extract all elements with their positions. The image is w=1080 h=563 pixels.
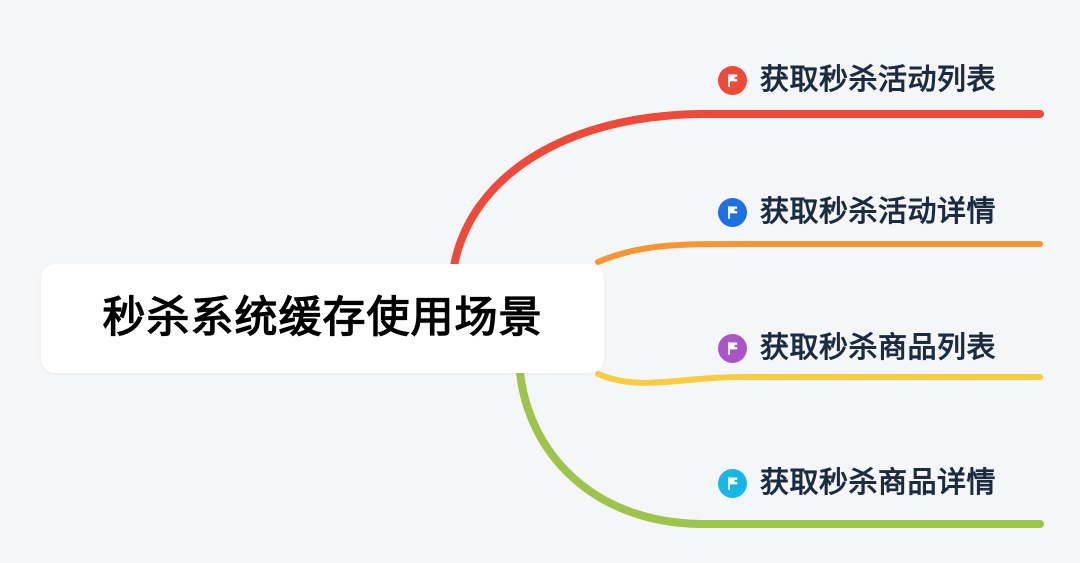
root-node[interactable]: 秒杀系统缓存使用场景 bbox=[41, 264, 604, 373]
topic-node-2[interactable]: 获取秒杀活动详情 bbox=[718, 192, 996, 232]
topic-node-3-label: 获取秒杀商品列表 bbox=[760, 334, 996, 363]
topic-node-4[interactable]: 获取秒杀商品详情 bbox=[718, 463, 996, 503]
topic-node-1-label: 获取秒杀活动列表 bbox=[760, 66, 996, 95]
topic-node-3[interactable]: 获取秒杀商品列表 bbox=[718, 328, 996, 368]
topic-node-2-label: 获取秒杀活动详情 bbox=[760, 198, 996, 227]
mindmap-canvas: 秒杀系统缓存使用场景 获取秒杀活动列表 获取秒杀活动详情 获取秒杀商品列表 bbox=[0, 0, 1080, 563]
flag-icon bbox=[718, 334, 747, 363]
topic-node-4-label: 获取秒杀商品详情 bbox=[760, 469, 996, 498]
branch-connector-3 bbox=[598, 374, 1040, 383]
branch-connector-1 bbox=[454, 114, 1040, 266]
branch-connector-2 bbox=[598, 244, 1040, 262]
flag-icon bbox=[718, 198, 747, 227]
topic-node-1[interactable]: 获取秒杀活动列表 bbox=[718, 60, 996, 100]
root-node-label: 秒杀系统缓存使用场景 bbox=[103, 297, 543, 340]
flag-icon bbox=[718, 469, 747, 498]
flag-icon bbox=[718, 66, 747, 95]
